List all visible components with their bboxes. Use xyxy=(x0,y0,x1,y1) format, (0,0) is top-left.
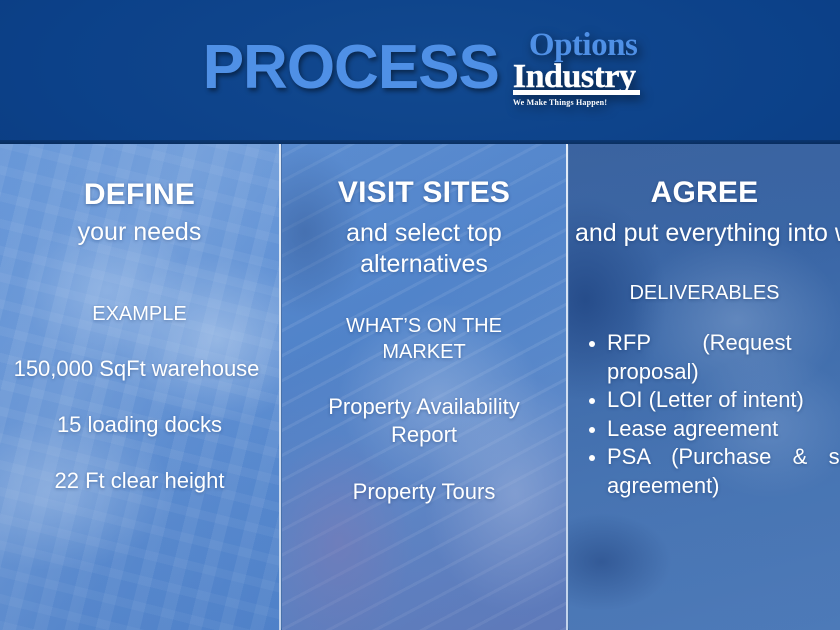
column-define-line-3: 22 Ft clear height xyxy=(0,468,279,494)
column-visit-sites-line-1: Property Availability Report xyxy=(282,393,566,448)
banner-inner: PROCESS Options Industry We Make Things … xyxy=(0,0,840,144)
column-visit-sites: VISIT SITES and select top alternatives … xyxy=(282,144,566,630)
title-banner: PROCESS Options Industry We Make Things … xyxy=(0,0,840,144)
column-define-line-1: 150,000 SqFt warehouse xyxy=(0,356,279,382)
logo-underline-bar xyxy=(513,90,640,95)
column-agree-label: DELIVERABLES xyxy=(569,282,840,305)
list-item: Lease agreement xyxy=(607,415,840,444)
column-visit-sites-content: VISIT SITES and select top alternatives … xyxy=(282,144,566,630)
column-visit-sites-line-2: Property Tours xyxy=(282,478,566,506)
process-columns: DEFINE your needs EXAMPLE 150,000 SqFt w… xyxy=(0,144,840,630)
list-item: RFP (Request for proposal) xyxy=(607,329,840,386)
column-agree: AGREE and put everything into writing DE… xyxy=(569,144,840,630)
column-visit-sites-label: WHAT’S ON THE MARKET xyxy=(282,313,566,365)
column-agree-subheading: and put everything into writing xyxy=(569,218,840,248)
list-item: PSA (Purchase & sale agreement) xyxy=(607,443,840,500)
column-define-heading: DEFINE xyxy=(0,178,279,212)
logo-tagline: We Make Things Happen! xyxy=(513,98,607,107)
column-define: DEFINE your needs EXAMPLE 150,000 SqFt w… xyxy=(0,144,279,630)
column-agree-content: AGREE and put everything into writing DE… xyxy=(569,144,840,630)
list-item: LOI (Letter of intent) xyxy=(607,386,840,415)
column-define-subheading: your needs xyxy=(0,218,279,247)
column-define-content: DEFINE your needs EXAMPLE 150,000 SqFt w… xyxy=(0,144,279,630)
column-agree-heading: AGREE xyxy=(569,176,840,210)
column-visit-sites-heading: VISIT SITES xyxy=(282,176,566,210)
column-visit-sites-subheading: and select top alternatives xyxy=(282,218,566,279)
slide-canvas: PROCESS Options Industry We Make Things … xyxy=(0,0,840,630)
options-industry-logo: Options Industry We Make Things Happen! xyxy=(513,30,637,110)
column-define-line-2: 15 loading docks xyxy=(0,412,279,438)
column-define-label: EXAMPLE xyxy=(0,303,279,326)
page-title: PROCESS xyxy=(203,37,499,99)
deliverables-list: RFP (Request for proposal) LOI (Letter o… xyxy=(569,329,840,501)
logo-industry-wrap: Industry xyxy=(513,61,637,92)
